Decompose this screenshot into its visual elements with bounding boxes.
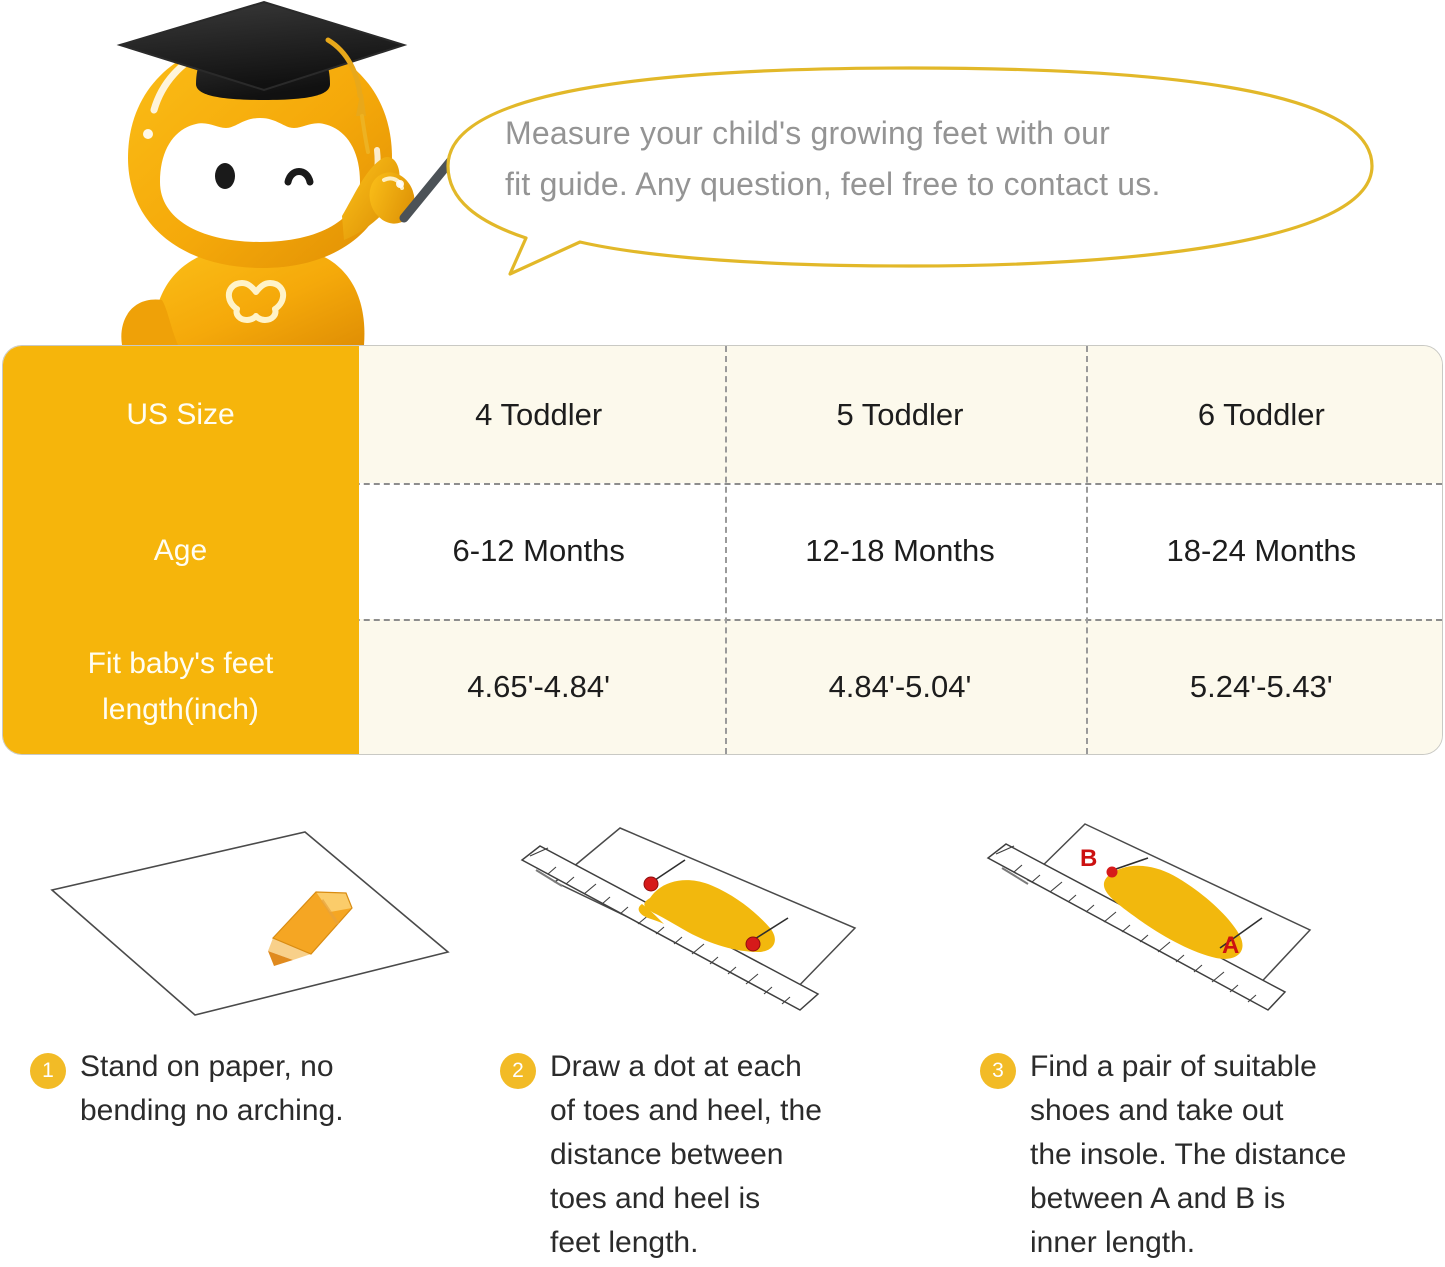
- step-2-line-2: of toes and heel, the: [550, 1089, 940, 1133]
- row-label-age: Age: [3, 483, 358, 619]
- row-label-feet-length: Fit baby's feet length(inch): [3, 619, 358, 755]
- cell-age-1: 6-12 Months: [358, 483, 719, 619]
- cell-us-size-1: 4 Toddler: [358, 346, 719, 483]
- table-row: US Size 4 Toddler 5 Toddler 6 Toddler: [3, 346, 1442, 483]
- step-3-badge: 3: [980, 1053, 1016, 1089]
- step-1-caption: 1 Stand on paper, no bending no arching.: [30, 1045, 470, 1133]
- step-2-line-4: toes and heel is: [550, 1177, 940, 1221]
- step-1-line-2: bending no arching.: [80, 1089, 470, 1133]
- heel-dot: [746, 937, 760, 951]
- table-row: Fit baby's feet length(inch) 4.65'-4.84'…: [3, 619, 1442, 755]
- step-3-line-2: shoes and take out: [1030, 1089, 1420, 1133]
- step-3-line-5: inner length.: [1030, 1221, 1420, 1265]
- bubble-line-1: Measure your child's growing feet with o…: [505, 108, 1305, 159]
- hero-banner: Measure your child's growing feet with o…: [0, 0, 1445, 345]
- cell-us-size-2: 5 Toddler: [719, 346, 1080, 483]
- point-b-label: B: [1080, 845, 1097, 872]
- step-1-line-1: Stand on paper, no: [80, 1045, 470, 1089]
- step-3-caption: 3 Find a pair of suitable shoes and take…: [980, 1045, 1420, 1265]
- cell-length-1: 4.65'-4.84': [358, 619, 719, 755]
- step-1-text: Stand on paper, no bending no arching.: [80, 1045, 470, 1133]
- paper-ruler-insole-icon: B A: [980, 820, 1420, 1025]
- measure-steps: 1 Stand on paper, no bending no arching.: [0, 800, 1445, 1267]
- point-a-label: A: [1222, 932, 1239, 959]
- row-label-us-size: US Size: [3, 346, 358, 483]
- step-2-line-3: distance between: [550, 1133, 940, 1177]
- cell-length-2: 4.84'-5.04': [719, 619, 1080, 755]
- step-2-line-5: feet length.: [550, 1221, 940, 1265]
- step-2-text: Draw a dot at each of toes and heel, the…: [550, 1045, 940, 1265]
- cell-age-3: 18-24 Months: [1081, 483, 1442, 619]
- point-b-dot: [1107, 867, 1118, 878]
- step-3-line-4: between A and B is: [1030, 1177, 1420, 1221]
- step-3-line-3: the insole. The distance: [1030, 1133, 1420, 1177]
- step-2-line-1: Draw a dot at each: [550, 1045, 940, 1089]
- paper-with-pencil-icon: [30, 820, 470, 1025]
- size-chart-table: US Size 4 Toddler 5 Toddler 6 Toddler Ag…: [2, 345, 1443, 755]
- step-2-caption: 2 Draw a dot at each of toes and heel, t…: [500, 1045, 940, 1265]
- table-row: Age 6-12 Months 12-18 Months 18-24 Month…: [3, 483, 1442, 619]
- row-label-line-2: length(inch): [102, 693, 259, 726]
- step-1-badge: 1: [30, 1053, 66, 1089]
- cell-length-3: 5.24'-5.43': [1081, 619, 1442, 755]
- paper-ruler-footprint-icon: [500, 820, 940, 1025]
- step-2-badge: 2: [500, 1053, 536, 1089]
- bubble-text: Measure your child's growing feet with o…: [505, 108, 1305, 210]
- step-3-text: Find a pair of suitable shoes and take o…: [1030, 1045, 1420, 1265]
- cell-age-2: 12-18 Months: [719, 483, 1080, 619]
- row-label-line-1: Fit baby's feet: [88, 647, 274, 680]
- cell-us-size-3: 6 Toddler: [1081, 346, 1442, 483]
- toe-dot: [644, 877, 658, 891]
- mascot-eye-open: [215, 163, 235, 189]
- graduate-mascot-icon: [92, 0, 432, 345]
- step-3-line-1: Find a pair of suitable: [1030, 1045, 1420, 1089]
- bubble-line-2: fit guide. Any question, feel free to co…: [505, 159, 1305, 210]
